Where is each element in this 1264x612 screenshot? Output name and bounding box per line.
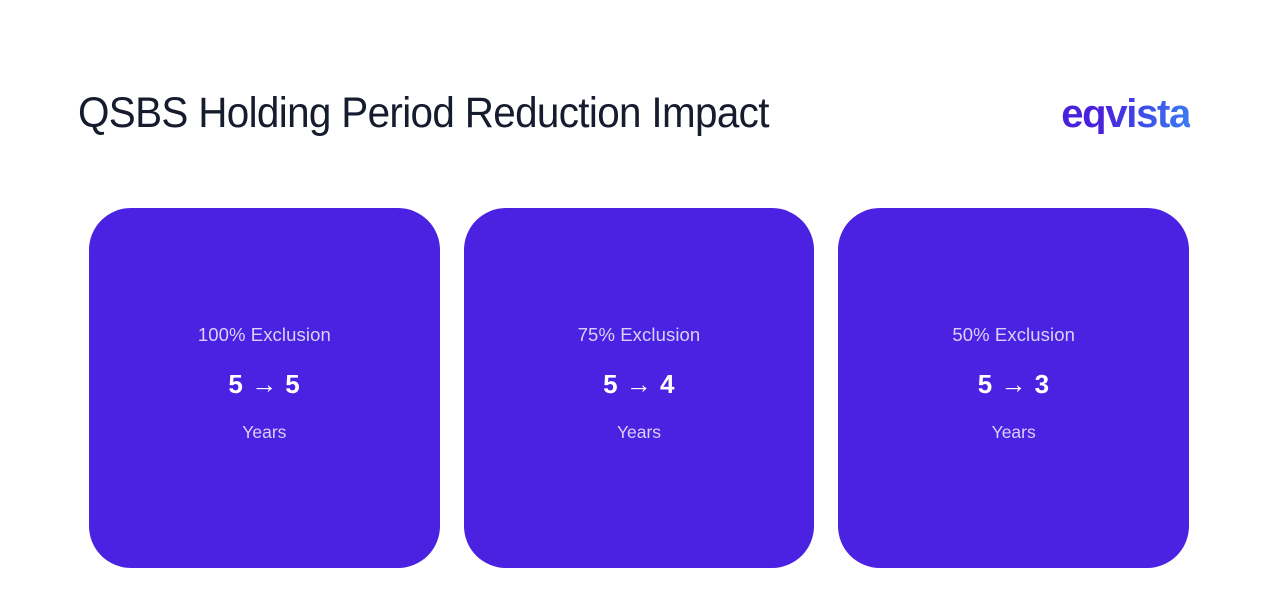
exclusion-card-100: 100% Exclusion 5 → 5 Years xyxy=(89,208,440,568)
card-unit: Years xyxy=(242,422,286,443)
exclusion-cards: 100% Exclusion 5 → 5 Years 75% Exclusion… xyxy=(89,208,1189,568)
exclusion-card-50: 50% Exclusion 5 → 3 Years xyxy=(838,208,1189,568)
card-label: 100% Exclusion xyxy=(198,324,331,346)
header: QSBS Holding Period Reduction Impact eqv… xyxy=(78,82,1190,146)
card-value: 5 → 4 xyxy=(603,369,675,400)
card-unit: Years xyxy=(992,422,1036,443)
card-label: 50% Exclusion xyxy=(952,324,1075,346)
card-value: 5 → 5 xyxy=(228,369,300,400)
card-value: 5 → 3 xyxy=(978,369,1050,400)
page-title: QSBS Holding Period Reduction Impact xyxy=(78,90,769,137)
card-label: 75% Exclusion xyxy=(578,324,701,346)
infographic-page: QSBS Holding Period Reduction Impact eqv… xyxy=(0,0,1264,612)
card-unit: Years xyxy=(617,422,661,443)
exclusion-card-75: 75% Exclusion 5 → 4 Years xyxy=(464,208,815,568)
eqvista-logo: eqvista xyxy=(1061,94,1190,134)
